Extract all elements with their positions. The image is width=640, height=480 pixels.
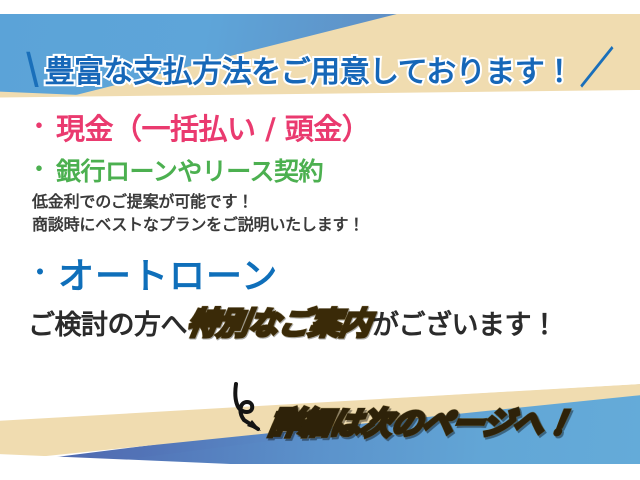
- forwardslash-accent-icon: ／: [580, 48, 614, 91]
- payment-option-cash: ・ 現金（一括払い / 頭金）: [0, 104, 640, 150]
- bullet-dot-icon: ・: [26, 114, 52, 140]
- special-offer-prefix: ご検討の方へ: [28, 303, 187, 342]
- payment-option-cash-label: 現金（一括払い / 頭金）: [56, 106, 370, 148]
- special-offer-suffix: がございます！: [372, 303, 558, 342]
- header-title: 豊富な支払方法をご用意しております！: [45, 47, 574, 91]
- content-area: ・ 現金（一括払い / 頭金） ・ 銀行ローンやリース契約 低金利でのご提案が可…: [0, 104, 640, 340]
- next-page-cta[interactable]: 詳細は次のページへ！: [266, 398, 578, 443]
- header-title-row: \ 豊富な支払方法をご用意しております！ ／: [0, 44, 640, 94]
- bullet-dot-icon: ・: [26, 157, 52, 183]
- bullet-dot-icon: ・: [26, 259, 54, 287]
- payment-option-bank-loan-label: 銀行ローンやリース契約: [56, 152, 323, 188]
- backslash-accent-icon: \: [26, 48, 38, 91]
- note-line-1: 低金利でのご提案が可能です！: [0, 190, 640, 213]
- auto-loan-label: オートローン: [58, 247, 278, 299]
- auto-loan-heading: ・ オートローン: [0, 248, 640, 298]
- special-offer-highlight: 特別なご案内: [184, 298, 374, 343]
- payment-option-bank-loan: ・ 銀行ローンやリース契約: [0, 150, 640, 190]
- note-line-2: 商談時にベストなプランをご説明いたします！: [0, 213, 640, 236]
- promo-banner: \ 豊富な支払方法をご用意しております！ ／ ・ 現金（一括払い / 頭金） ・…: [0, 0, 640, 480]
- special-offer-line: ご検討の方へ 特別なご案内 がございます！: [0, 298, 640, 340]
